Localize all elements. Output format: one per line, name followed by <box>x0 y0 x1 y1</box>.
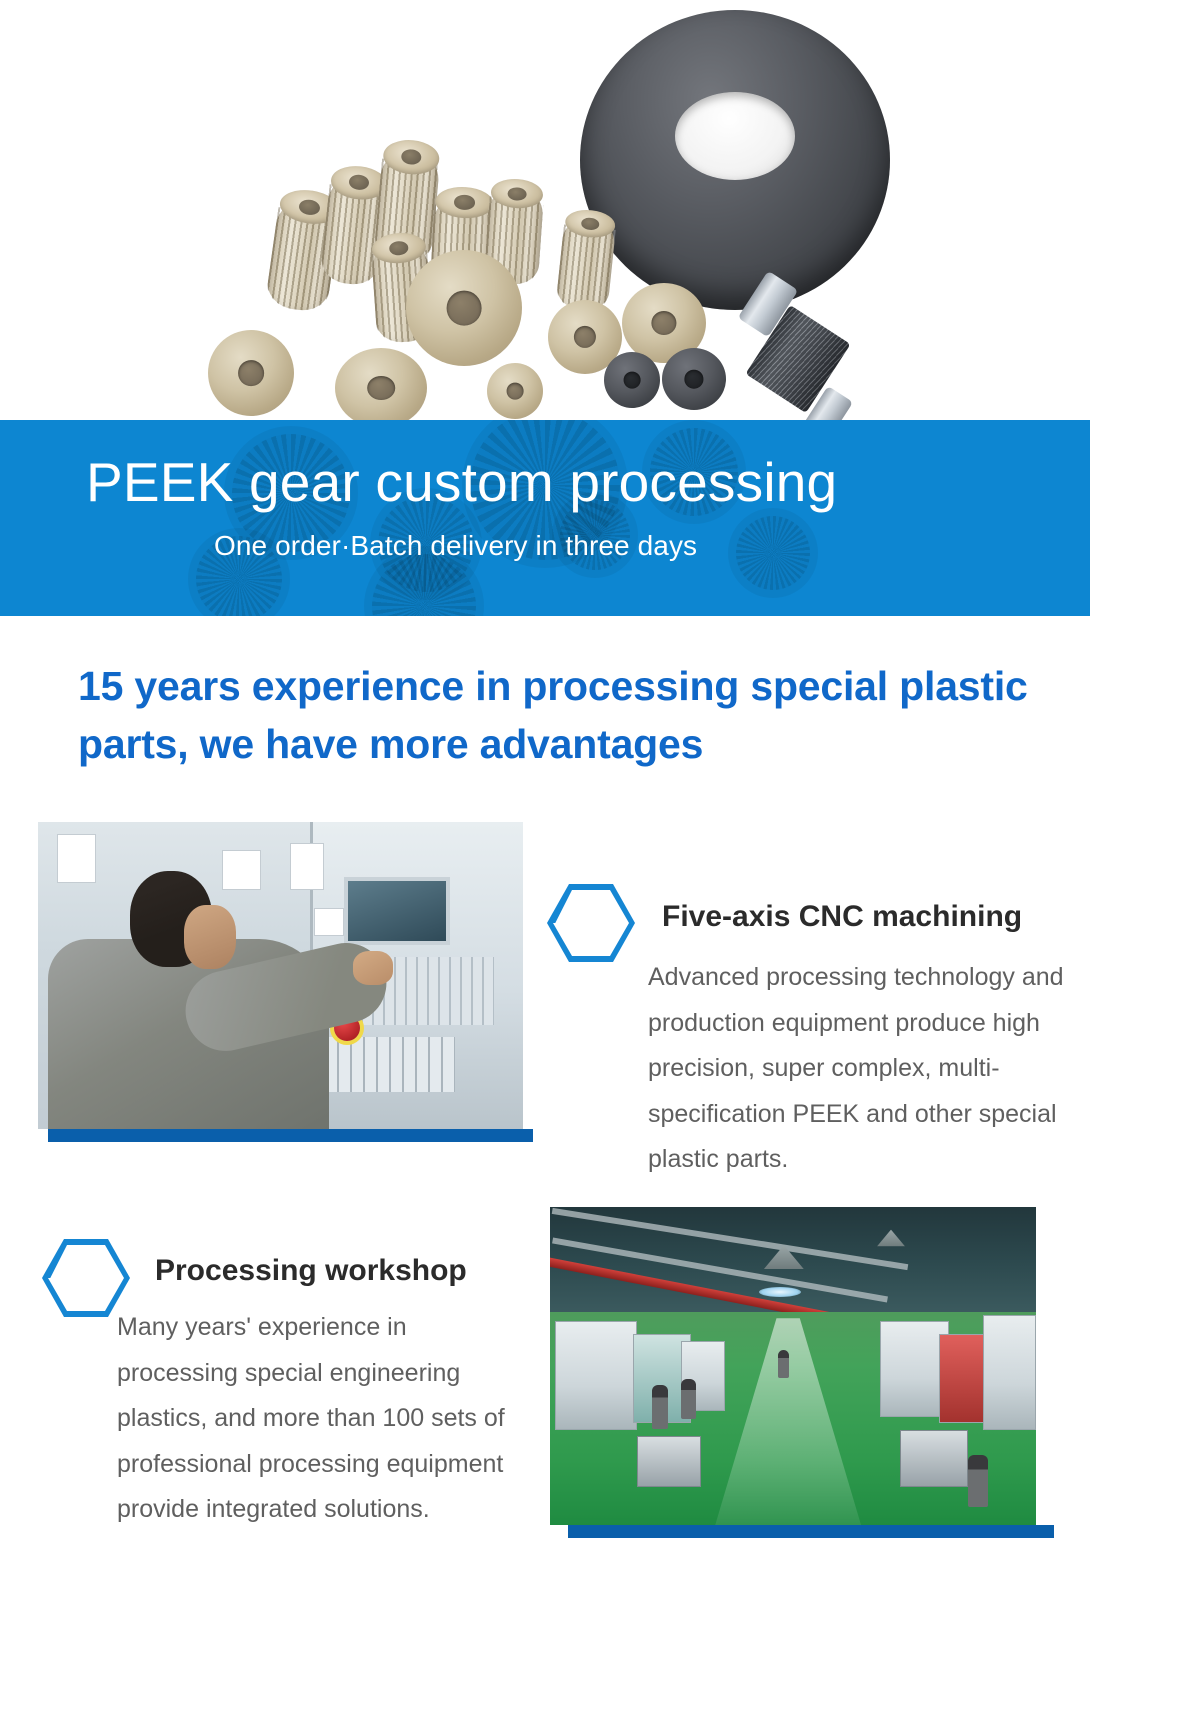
gear-icon-flat-2 <box>335 348 427 428</box>
gear-icon-flat-4 <box>487 363 543 419</box>
lamp-glow <box>759 1287 801 1297</box>
banner-text-group: PEEK gear custom processing One order·Ba… <box>0 420 1090 562</box>
product-marketing-page: PEEK gear custom processing One order·Ba… <box>0 0 1200 1732</box>
worker-face <box>184 905 236 969</box>
worker-figure-1 <box>652 1385 668 1429</box>
gear-icon-flat-1 <box>406 250 522 366</box>
hero-banner: PEEK gear custom processing One order·Ba… <box>0 420 1090 616</box>
cnc-sticker-1 <box>222 850 261 890</box>
gear-icon-pinion-7 <box>555 216 616 313</box>
feature-image-workshop-accent-bar <box>568 1525 1054 1538</box>
feature-badge-01: 01 <box>547 884 635 962</box>
worker-hand <box>353 951 393 985</box>
workshop-cart-2 <box>900 1430 968 1487</box>
banner-title: PEEK gear custom processing <box>86 454 1090 512</box>
feature-image-workshop <box>550 1207 1036 1525</box>
gear-icon-flat-3 <box>208 330 294 416</box>
gear-icon-flat-dark-1 <box>604 352 660 408</box>
feature-image-cnc <box>38 822 523 1129</box>
feature-body-01: Advanced processing technology and produ… <box>648 955 1080 1183</box>
feature-title-01: Five-axis CNC machining <box>662 900 1022 934</box>
feature-number-01: 01 <box>547 884 635 962</box>
hero-product-photo <box>0 0 1090 470</box>
worker-figure-3 <box>778 1350 789 1378</box>
worker-figure-4 <box>968 1455 988 1507</box>
banner-subtitle: One order·Batch delivery in three days <box>214 530 1090 562</box>
page-title: 15 years experience in processing specia… <box>78 657 1088 773</box>
gear-icon-large-dark <box>580 10 890 310</box>
workshop-cart-1 <box>637 1436 700 1487</box>
machine-left-1 <box>555 1321 638 1429</box>
gear-bore <box>675 92 795 180</box>
feature-title-02: Processing workshop <box>155 1254 467 1288</box>
cnc-sticker-3 <box>314 908 343 936</box>
cnc-screen <box>344 877 451 945</box>
worker-figure-2 <box>681 1379 696 1419</box>
gear-icon-flat-dark-2 <box>662 348 726 410</box>
cnc-sticker-2 <box>290 843 324 889</box>
cnc-sticker-4 <box>57 834 96 883</box>
machine-right-3 <box>983 1315 1036 1429</box>
feature-body-02: Many years' experience in processing spe… <box>117 1305 529 1533</box>
feature-image-cnc-accent-bar <box>48 1129 533 1142</box>
